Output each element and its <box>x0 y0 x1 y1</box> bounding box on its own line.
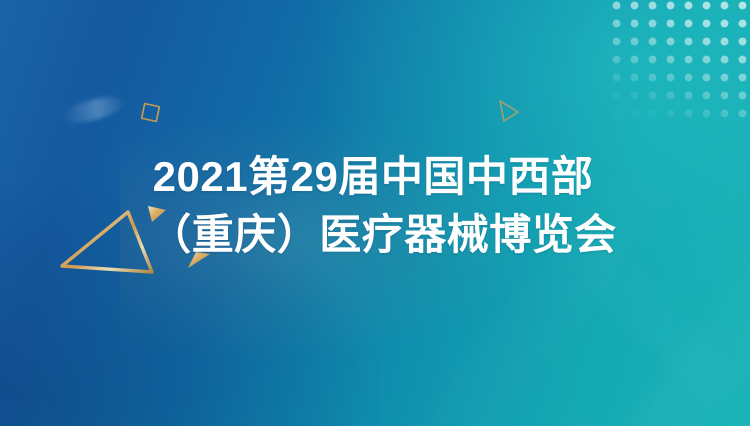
banner-title-line-1: 2021第29届中国中西部 <box>0 148 750 206</box>
promo-banner: 2021第29届中国中西部 （重庆）医疗器械博览会 <box>0 0 750 426</box>
banner-title-line-2: （重庆）医疗器械博览会 <box>0 206 750 264</box>
triangle-outline-small-icon <box>500 101 518 121</box>
square-outline-icon <box>142 104 160 122</box>
banner-title: 2021第29届中国中西部 （重庆）医疗器械博览会 <box>0 148 750 264</box>
light-wisp-decoration <box>60 92 125 127</box>
dot-matrix-pattern <box>610 0 750 128</box>
